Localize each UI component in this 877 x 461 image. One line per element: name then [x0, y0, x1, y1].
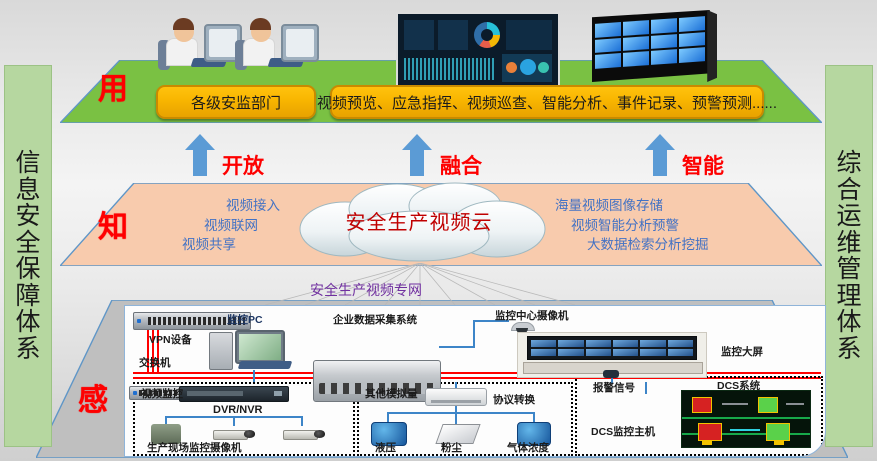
- control-room-photo: [517, 332, 707, 378]
- pill-safety-departments[interactable]: 各级安监部门: [156, 85, 316, 119]
- cloud-left-capability-3: 视频共享: [120, 235, 280, 255]
- pillar-left-char-3: 安: [15, 203, 40, 230]
- switch-label: 交换机: [139, 355, 171, 370]
- monitoring-center-camera-label: 监控中心摄像机: [495, 308, 569, 323]
- pillar-right-char-3: 运: [836, 203, 861, 230]
- red-bus-line-1: [133, 372, 821, 374]
- arrow-up-intelligent: [645, 134, 675, 176]
- analog-bus: [387, 412, 535, 414]
- arrow-up-open: [185, 134, 215, 176]
- architecture-diagram: 用 知 感 各级安监部门 视频预: [0, 0, 877, 461]
- monitoring-pc-icon: [209, 328, 299, 370]
- center-riser: [473, 320, 475, 348]
- pillar-information-security: 信 息 安 全 保 障 体 系: [4, 65, 52, 447]
- group-alarm-dcs-title: 报警信号: [593, 380, 635, 395]
- application-layer-glyph: 用: [98, 64, 128, 108]
- arrow-label-fusion: 融合: [440, 150, 482, 180]
- vpn-device-label: VPN设备: [149, 332, 192, 347]
- pillar-left-char-2: 息: [15, 177, 40, 204]
- protocol-converter-icon: [425, 388, 487, 406]
- video-wall-display: [592, 10, 720, 82]
- perception-layer-glyph: 感: [78, 375, 108, 419]
- perception-panel: VPN设备 交换机 监控PC 企业数据采集系统 监控中心摄像机: [124, 305, 826, 457]
- bullet-camera-icon-2: [283, 426, 325, 442]
- bi-dashboard-screen: [396, 12, 560, 89]
- pillar-right-char-6: 理: [836, 283, 861, 310]
- pc-uplink: [253, 370, 255, 382]
- cloud-right-capabilities: 海量视频图像存储 视频智能分析预警 大数据检索分析挖掘: [555, 196, 765, 255]
- pillar-right-char-4: 维: [836, 230, 861, 257]
- cloud-right-capability-1: 海量视频图像存储: [555, 196, 765, 216]
- field-camera-label: 生产现场监控摄像机: [147, 440, 242, 455]
- arrow-label-open: 开放: [222, 150, 264, 180]
- group-video-surveillance-title: 视频监控: [141, 386, 183, 401]
- dcs-uplink: [645, 382, 647, 394]
- analog-branch-2: [455, 412, 457, 424]
- group-analog-signals-title: 其他模拟量: [365, 386, 418, 401]
- dcs-host-label: DCS监控主机: [591, 424, 655, 439]
- gas-concentration-label: 气体浓度: [507, 440, 549, 455]
- pillar-right-char-7: 体: [836, 309, 861, 336]
- pillar-left-char-6: 障: [15, 283, 40, 310]
- pillar-right-char-1: 综: [836, 150, 861, 177]
- dvr-branch-3: [301, 416, 303, 426]
- hydraulic-label: 液压: [375, 440, 396, 455]
- arrow-up-fusion: [402, 134, 432, 176]
- dust-label: 粉尘: [441, 440, 462, 455]
- private-network-label: 安全生产视频专网: [310, 280, 422, 300]
- dcs-system-label: DCS系统: [717, 378, 760, 393]
- dvr-branch-2: [233, 416, 235, 426]
- pillar-right-char-2: 合: [836, 177, 861, 204]
- monitoring-pc-label: 监控PC: [227, 312, 263, 327]
- pillar-right-char-5: 管: [836, 256, 861, 283]
- pillar-right-char-8: 系: [836, 336, 861, 363]
- dvr-nvr-label: DVR/NVR: [213, 404, 263, 416]
- cloud-right-capability-2: 视频智能分析预警: [555, 216, 765, 236]
- pill-application-functions-label: 视频预览、应急指挥、视频巡查、智能分析、事件记录、预警预测......: [317, 92, 777, 113]
- pillar-operations-management: 综 合 运 维 管 理 体 系: [825, 65, 873, 447]
- big-screen-label: 监控大屏: [721, 344, 763, 359]
- pillar-left-char-8: 系: [15, 336, 40, 363]
- cloud-left-capability-2: 视频联网: [120, 216, 280, 236]
- dcs-system-screen: [681, 390, 811, 448]
- operator-person-1: [158, 12, 238, 72]
- cloud-right-capability-3: 大数据检索分析挖掘: [555, 235, 765, 255]
- pillar-left-char-1: 信: [15, 150, 40, 177]
- pill-application-functions[interactable]: 视频预览、应急指挥、视频巡查、智能分析、事件记录、预警预测......: [330, 85, 764, 119]
- pillar-left-char-4: 全: [15, 230, 40, 257]
- das-to-center: [439, 346, 475, 348]
- platform-layer-glyph: 知: [98, 202, 128, 246]
- pill-safety-departments-label: 各级安监部门: [191, 92, 281, 113]
- cloud-left-capabilities: 视频接入 视频联网 视频共享: [120, 196, 280, 255]
- pillar-left-char-7: 体: [15, 309, 40, 336]
- dvr-nvr-icon: [179, 386, 289, 402]
- pillar-left-char-5: 保: [15, 256, 40, 283]
- arrow-label-intelligent: 智能: [682, 150, 724, 180]
- protocol-converter-label: 协议转换: [493, 392, 535, 407]
- operator-person-2: [235, 12, 315, 72]
- data-acquisition-label: 企业数据采集系统: [333, 312, 417, 327]
- cloud-label: 安全生产视频云: [287, 206, 551, 235]
- cloud-left-capability-1: 视频接入: [120, 196, 280, 216]
